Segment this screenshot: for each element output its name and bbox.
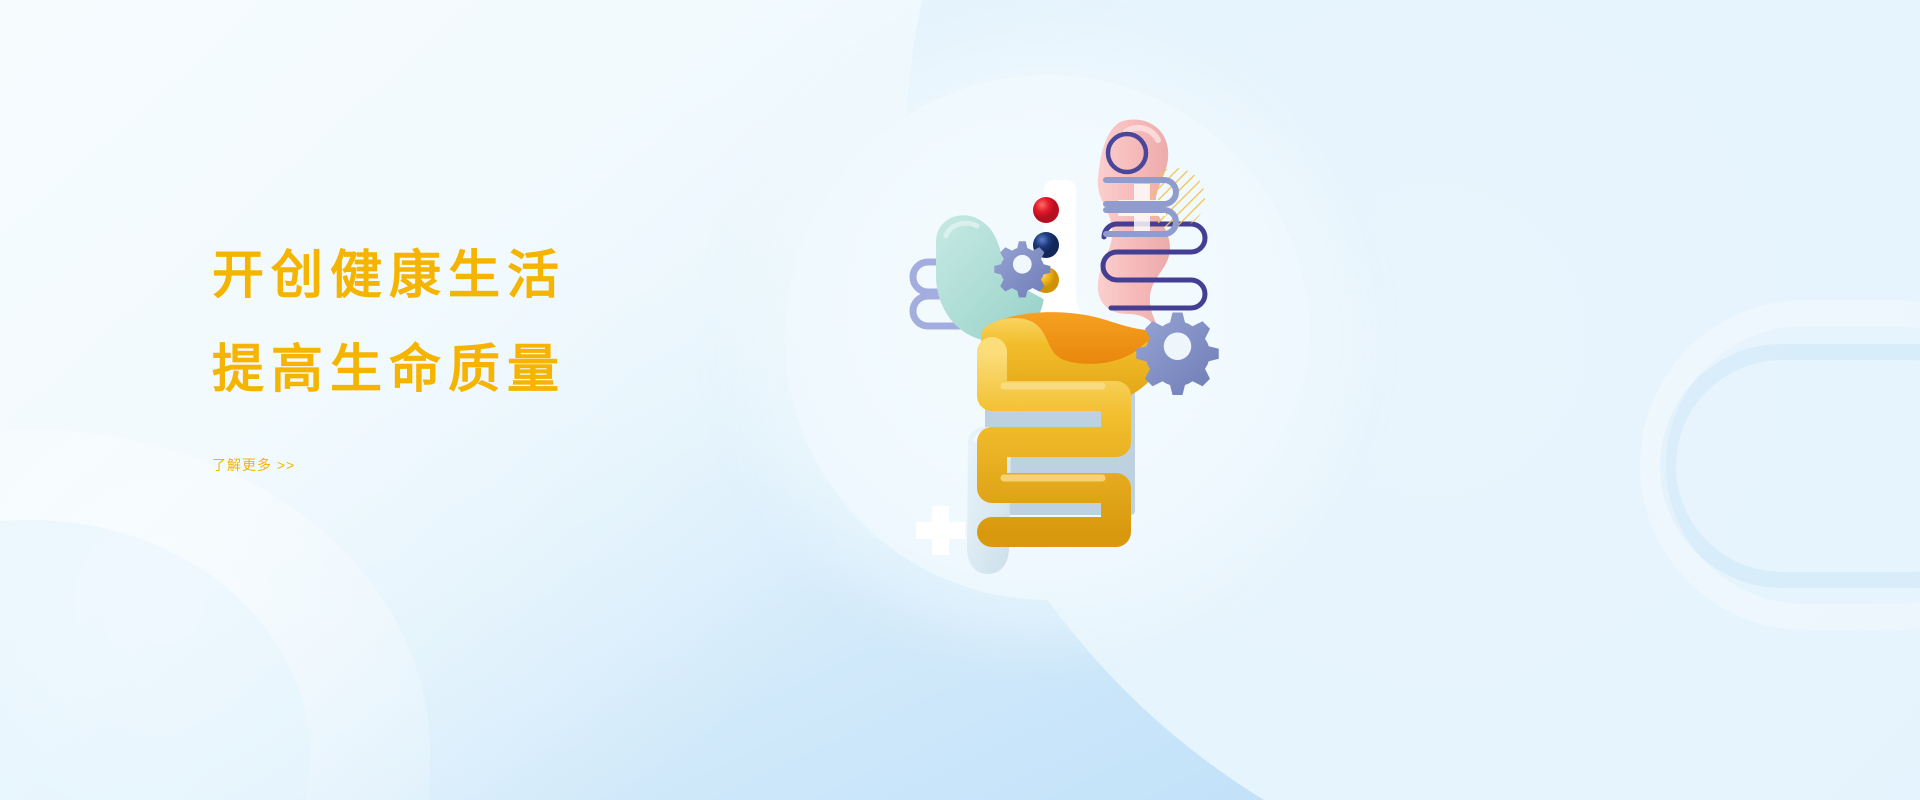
headline-line-1: 开创健康生活 — [212, 250, 892, 302]
gear-icon-large — [1136, 313, 1219, 396]
background-outline-motif-inner — [1660, 344, 1920, 588]
hero-banner: 开创健康生活 提高生命质量 了解更多 >> — [0, 0, 1920, 800]
headline-line-2: 提高生命质量 — [212, 344, 892, 396]
background-blob-bottom-left — [0, 430, 430, 800]
learn-more-link[interactable]: 了解更多 >> — [212, 458, 295, 472]
cross-icon-bottom — [916, 506, 965, 555]
background-outline-motif — [1640, 300, 1920, 630]
digestive-system-illustration — [880, 70, 1360, 630]
dot-red — [1033, 197, 1059, 223]
background-blob-bottom-left-inner — [0, 520, 310, 800]
hero-copy-block: 开创健康生活 提高生命质量 了解更多 >> — [212, 250, 892, 475]
